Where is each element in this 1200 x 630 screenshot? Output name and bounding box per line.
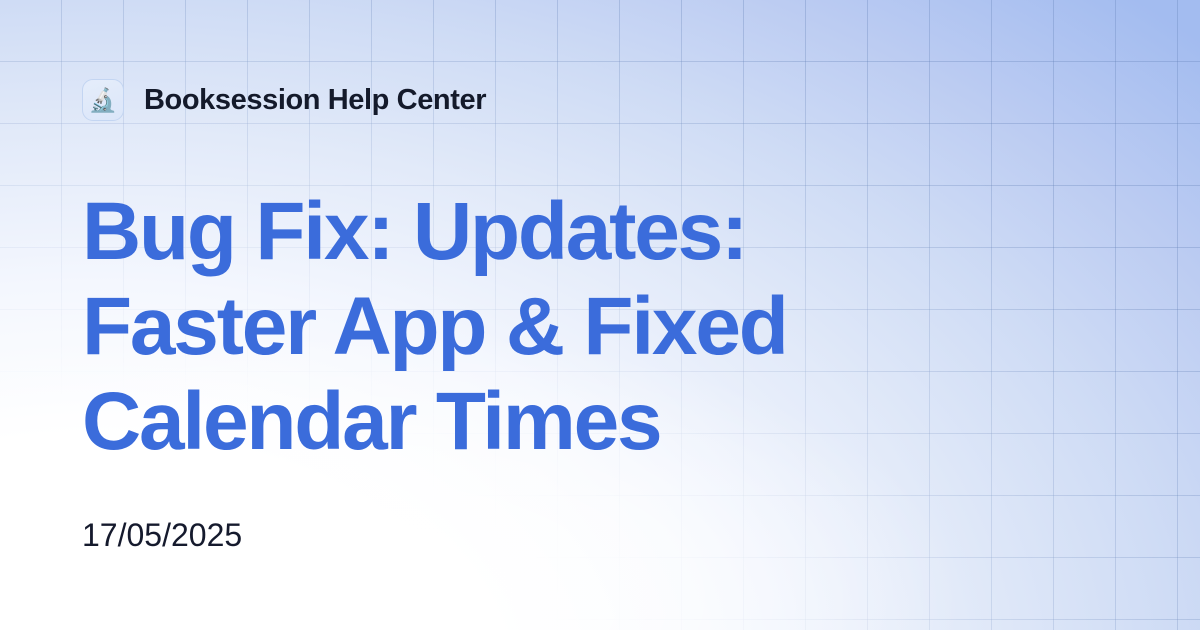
brand-header: 🔬 Booksession Help Center xyxy=(82,78,1120,122)
brand-name: Booksession Help Center xyxy=(144,84,486,117)
page-title: Bug Fix: Updates: Faster App & Fixed Cal… xyxy=(82,184,962,469)
headline-line-1: Bug Fix: Updates: xyxy=(82,184,962,279)
og-card: 🔬 Booksession Help Center Bug Fix: Updat… xyxy=(0,0,1200,630)
card-content: 🔬 Booksession Help Center Bug Fix: Updat… xyxy=(0,0,1200,630)
headline-line-3: Calendar Times xyxy=(82,374,962,469)
microscope-icon: 🔬 xyxy=(82,79,124,121)
publish-date: 17/05/2025 xyxy=(82,517,1120,554)
headline-line-2: Faster App & Fixed xyxy=(82,279,962,374)
